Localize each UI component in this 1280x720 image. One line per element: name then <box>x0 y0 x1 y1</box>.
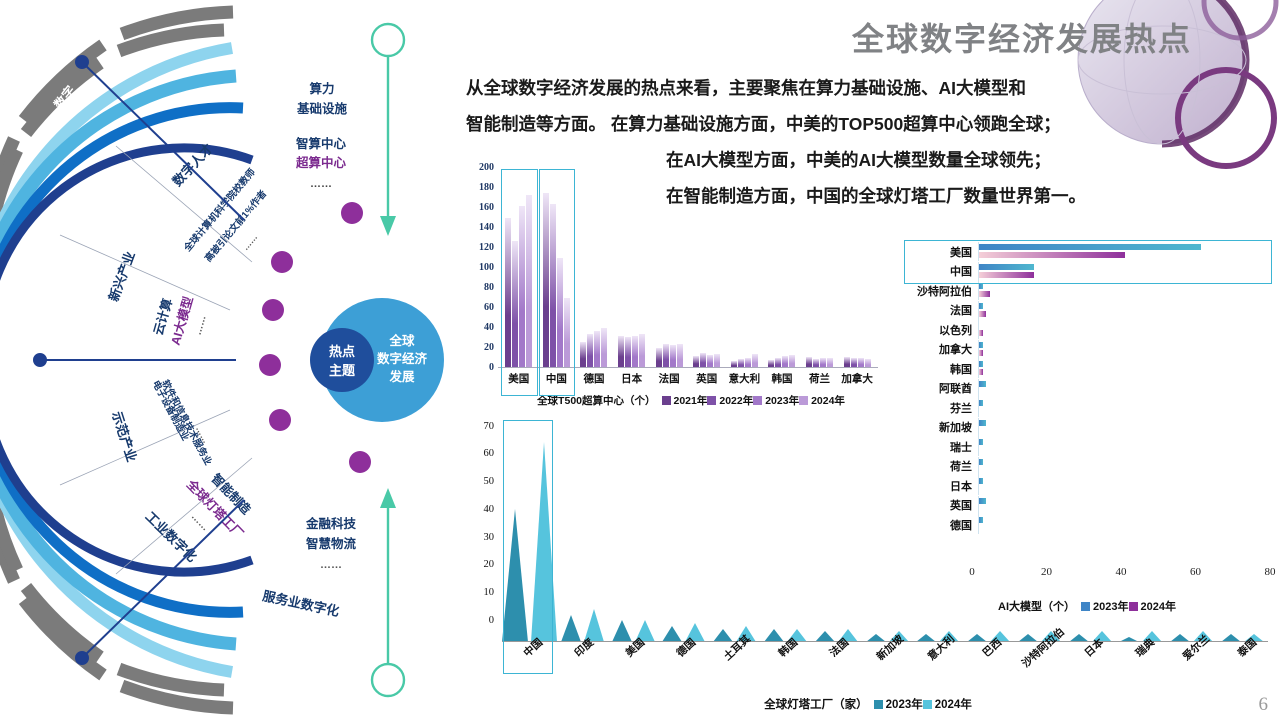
legend-label-3: 2024年 <box>811 393 845 408</box>
chart-t500-bar <box>564 298 570 368</box>
chart-lighthouse-group <box>502 422 557 642</box>
chart-ai-models-bar-cell <box>978 281 1270 300</box>
legend-item-0: 2023年 <box>874 696 923 712</box>
sector-5-dots: …… <box>189 511 211 533</box>
chart-ai-models-bar <box>979 303 983 309</box>
chart-t500-xlabel: 韩国 <box>763 371 801 386</box>
chart-lighthouse-xlabel: 瑞典 <box>1115 642 1166 680</box>
legend-swatch-1 <box>707 396 716 405</box>
chart-lighthouse-xlabel: 爱尔兰 <box>1166 642 1217 680</box>
chart-ai-models-category-label: 阿联酋 <box>898 380 978 396</box>
chart-t500-xlabel: 德国 <box>575 371 613 386</box>
paragraph-line-2: 智能制造等方面。 在算力基础设施方面，中美的TOP500超算中心领跑全球； <box>466 114 1206 136</box>
sector-0-line2: 基础设施 <box>296 101 348 116</box>
center-inner-line1: 热点 <box>329 344 355 359</box>
chart-ai-models-bar-cell <box>978 379 1270 398</box>
chart-ai-models-bar <box>979 264 1034 270</box>
chart-t500-bar <box>587 334 593 368</box>
fan-sector-texts: 算力 基础设施 智算中心 超算中心 …… 全球计算机科学院校教师 高被引论文前1… <box>150 81 357 571</box>
chart-ai-models-category-label: 韩国 <box>898 361 978 377</box>
chart-ai-models-row: 中国 <box>898 262 1270 282</box>
chart-t500-bar <box>557 258 563 368</box>
chart-t500-xlabel: 中国 <box>538 371 576 386</box>
legend-label-0: 2023年 <box>886 696 923 712</box>
purple-dot-1 <box>271 251 293 273</box>
chart-lighthouse-ytick: 50 <box>464 476 494 487</box>
chart-lighthouse-group <box>912 422 963 642</box>
sector-1-line1: 智算中心 <box>295 136 347 151</box>
chart-t500-bar <box>519 206 525 368</box>
chart-t500-ytick: 0 <box>462 362 494 373</box>
sector-6-dots: …… <box>320 559 342 571</box>
chart-lighthouse-legend: 2023年2024年 <box>874 696 972 712</box>
chart-lighthouse-triangle <box>612 620 632 642</box>
chart-lighthouse-ytick: 20 <box>464 559 494 570</box>
chart-t500-bar <box>580 342 586 368</box>
chart-lighthouse-factories: 010203040506070 中国印度美国德国土耳其韩国法国新加坡意大利巴西沙… <box>462 412 1274 714</box>
chart-t500-bar <box>512 241 518 368</box>
chart-lighthouse-xlabel: 印度 <box>553 642 604 680</box>
chart-ai-models-row: 美国 <box>898 242 1270 262</box>
purple-dot-4 <box>269 409 291 431</box>
chart-t500-bar <box>670 345 676 368</box>
chart-lighthouse-group <box>659 422 710 642</box>
legend-label-1: 2024年 <box>935 696 972 712</box>
chart-ai-models-row: 阿联酋 <box>898 379 1270 399</box>
chart-t500-caption: 全球T500超算中心（个） 2021年2022年2023年2024年 <box>500 393 882 408</box>
sector-3-dots: …… <box>193 314 209 336</box>
chart-t500-x-labels: 美国中国德国日本法国英国意大利韩国荷兰加拿大 <box>500 371 876 386</box>
sector-4-line2: 软件和信息技术服务业 <box>159 378 214 468</box>
chart-t500-bar <box>601 328 607 368</box>
center-inner-circle <box>310 328 374 392</box>
chart-ai-models-bar <box>979 252 1125 258</box>
chart-lighthouse-xlabel: 意大利 <box>911 642 962 680</box>
chart-lighthouse-xlabel: 法国 <box>808 642 859 680</box>
green-circle-bottom <box>372 664 404 696</box>
chart-lighthouse-xlabel: 韩国 <box>757 642 808 680</box>
chart-t500-bar <box>700 353 706 368</box>
chart-lighthouse-xlabel: 土耳其 <box>706 642 757 680</box>
chart-t500-xlabel: 法国 <box>650 371 688 386</box>
chart-lighthouse-xlabel: 新加坡 <box>859 642 910 680</box>
chart-ai-models-row: 以色列 <box>898 320 1270 340</box>
fan-center: 全球 数字经济 发展 热点 主题 <box>310 298 444 422</box>
chart-lighthouse-ytick: 30 <box>464 532 494 543</box>
purple-dot-2 <box>262 299 284 321</box>
chart-lighthouse-xlabel: 巴西 <box>962 642 1013 680</box>
chart-t500-baseline <box>498 367 878 368</box>
chart-ai-models-bar <box>979 244 1201 250</box>
sector-1-dots: …… <box>310 178 332 190</box>
chart-lighthouse-group <box>963 422 1014 642</box>
chart-lighthouse-triangle <box>531 442 557 642</box>
chart-lighthouse-xlabel: 沙特阿拉伯 <box>1013 642 1064 680</box>
chart-t500-xlabel: 意大利 <box>726 371 764 386</box>
chart-ai-models-category-label: 法国 <box>898 302 978 318</box>
ring-label-4: 服务业数字化 <box>261 588 340 619</box>
chart-t500-xlabel: 日本 <box>613 371 651 386</box>
center-inner-line2: 主题 <box>329 363 356 378</box>
paragraph-line-3: 在AI大模型方面，中美的AI大模型数量全球领先； <box>466 150 1206 172</box>
legend-label-1: 2022年 <box>719 393 753 408</box>
chart-lighthouse-ytick: 0 <box>464 615 494 626</box>
chart-lighthouse-xlabel: 中国 <box>502 642 553 680</box>
chart-t500-bar <box>618 336 624 368</box>
chart-ai-models-bar <box>979 400 983 406</box>
chart-t500-ytick: 40 <box>462 322 494 333</box>
legend-item-1: 2022年 <box>707 393 753 408</box>
chart-t500-xlabel: 荷兰 <box>801 371 839 386</box>
sector-1-line2: 超算中心 <box>295 155 347 170</box>
legend-item-1: 2024年 <box>923 696 972 712</box>
chart-lighthouse-ytick: 60 <box>464 448 494 459</box>
chart-lighthouse-group <box>760 422 811 642</box>
legend-swatch-1 <box>923 700 932 709</box>
chart-ai-models-bar-cell <box>978 262 1270 281</box>
legend-swatch-0 <box>874 700 883 709</box>
center-outer-line2: 数字经济 <box>376 351 428 366</box>
sector-2-dots: …… <box>240 232 259 252</box>
chart-ai-models-bar-cell <box>978 242 1270 261</box>
chart-lighthouse-group <box>862 422 913 642</box>
chart-lighthouse-caption: 全球灯塔工厂（家） 2023年2024年 <box>462 696 1274 712</box>
chart-t500-bar <box>625 337 631 368</box>
chart-lighthouse-caption-text: 全球灯塔工厂（家） <box>764 696 868 712</box>
chart-ai-models-bar <box>979 311 986 317</box>
chart-lighthouse-group <box>1166 422 1217 642</box>
chart-lighthouse-group <box>1217 422 1268 642</box>
chart-lighthouse-triangle <box>561 615 581 642</box>
chart-ai-models-category-label: 中国 <box>898 263 978 279</box>
chart-t500-bar <box>714 354 720 368</box>
chart-ai-models-category-label: 美国 <box>898 244 978 260</box>
chart-lighthouse-triangle <box>662 626 682 642</box>
chart-ai-models-category-label: 加拿大 <box>898 341 978 357</box>
chart-ai-models-category-label: 沙特阿拉伯 <box>898 283 978 299</box>
legend-item-3: 2024年 <box>799 393 845 408</box>
chart-t500-bar <box>656 348 662 368</box>
radial-fan-diagram: 数字化 基础设施 数字 要素 数字 产业化 产业 数字化 数字化 产业 <box>0 0 470 720</box>
chart-t500-ytick: 80 <box>462 282 494 293</box>
legend-swatch-0 <box>662 396 671 405</box>
chart-t500-bar <box>632 336 638 368</box>
page-number: 6 <box>1259 694 1269 716</box>
chart-ai-models-bar <box>979 291 990 297</box>
chart-ai-models-row: 法国 <box>898 301 1270 321</box>
chart-t500-bar <box>677 344 683 368</box>
chart-t500-ytick: 120 <box>462 242 494 253</box>
chart-lighthouse-triangle <box>502 509 528 642</box>
paragraph-line-1: 从全球数字经济发展的热点来看，主要聚焦在算力基础设施、AI大模型和 <box>466 78 1206 100</box>
chart-t500-xlabel: 英国 <box>688 371 726 386</box>
legend-label-2: 2023年 <box>765 393 799 408</box>
chart-t500-ytick: 100 <box>462 262 494 273</box>
chart-t500-ytick: 20 <box>462 342 494 353</box>
chart-t500-xlabel: 美国 <box>500 371 538 386</box>
chart-ai-models-row: 沙特阿拉伯 <box>898 281 1270 301</box>
legend-item-2: 2023年 <box>753 393 799 408</box>
page-title: 全球数字经济发展热点 <box>852 14 1192 60</box>
chart-t500-ytick: 60 <box>462 302 494 313</box>
chart-ai-models-bar-cell <box>978 359 1270 378</box>
body-paragraph: 从全球数字经济发展的热点来看，主要聚焦在算力基础设施、AI大模型和 智能制造等方… <box>466 78 1206 222</box>
chart-t500-ytick: 140 <box>462 222 494 233</box>
chart-t500-bar <box>505 218 511 368</box>
chart-lighthouse-ytick: 70 <box>464 421 494 432</box>
chart-t500-legend: 2021年2022年2023年2024年 <box>662 393 845 408</box>
paragraph-line-4: 在智能制造方面，中国的全球灯塔工厂数量世界第一。 <box>466 186 1206 208</box>
chart-ai-models-bar <box>979 350 983 356</box>
chart-lighthouse-group <box>1014 422 1065 642</box>
chart-lighthouse-group <box>608 422 659 642</box>
chart-lighthouse-ytick: 10 <box>464 587 494 598</box>
chart-ai-models-bar <box>979 330 983 336</box>
chart-ai-models-row: 韩国 <box>898 359 1270 379</box>
chart-ai-models-bar <box>979 342 983 348</box>
center-outer-line3: 发展 <box>388 369 415 384</box>
chart-ai-models-category-label: 以色列 <box>898 322 978 338</box>
purple-dot-3 <box>259 354 281 376</box>
chart-ai-models-bar <box>979 272 1034 278</box>
green-circle-top <box>372 24 404 56</box>
chart-lighthouse-group <box>811 422 862 642</box>
chart-lighthouse-xlabel: 德国 <box>655 642 706 680</box>
chart-lighthouse-plot-area <box>502 422 1268 642</box>
chart-ai-models-bar <box>979 283 983 289</box>
chart-lighthouse-group <box>709 422 760 642</box>
legend-swatch-3 <box>799 396 808 405</box>
chart-ai-models-bar <box>979 381 986 387</box>
ring-label-2: 示范产业 <box>109 410 139 464</box>
chart-lighthouse-group <box>1065 422 1116 642</box>
chart-t500-bar <box>550 204 556 368</box>
chart-lighthouse-group <box>1116 422 1167 642</box>
chart-ai-models-bar-cell <box>978 340 1270 359</box>
sector-6-line2: 智慧物流 <box>305 536 357 551</box>
chart-t500-bar <box>594 331 600 368</box>
legend-label-0: 2021年 <box>674 393 708 408</box>
chart-t500-bar <box>752 354 758 368</box>
legend-swatch-2 <box>753 396 762 405</box>
chart-lighthouse-xlabel: 泰国 <box>1217 642 1268 680</box>
chart-ai-models-row: 加拿大 <box>898 340 1270 360</box>
purple-dot-0 <box>341 202 363 224</box>
center-outer-line1: 全球 <box>388 333 415 348</box>
chart-ai-models-bar-cell <box>978 320 1270 339</box>
chart-lighthouse-xlabel: 美国 <box>604 642 655 680</box>
chart-t500-bar <box>639 334 645 368</box>
purple-dot-5 <box>349 451 371 473</box>
sector-6-line1: 金融科技 <box>305 516 357 531</box>
chart-lighthouse-group <box>557 422 608 642</box>
chart-lighthouse-ytick: 40 <box>464 504 494 515</box>
chart-ai-models-bar <box>979 369 983 375</box>
chart-lighthouse-x-labels: 中国印度美国德国土耳其韩国法国新加坡意大利巴西沙特阿拉伯日本瑞典爱尔兰泰国 <box>502 642 1268 680</box>
chart-t500-xlabel: 加拿大 <box>838 371 876 386</box>
chart-t500-caption-text: 全球T500超算中心（个） <box>537 393 655 408</box>
slide-root: 全球数字经济发展热点 从全球数字经济发展的热点来看，主要聚焦在算力基础设施、AI… <box>0 0 1280 720</box>
legend-item-0: 2021年 <box>662 393 708 408</box>
chart-ai-models-bar <box>979 361 983 367</box>
chart-t500-bar <box>663 344 669 368</box>
sector-0-line1: 算力 <box>309 81 334 96</box>
chart-lighthouse-xlabel: 日本 <box>1064 642 1115 680</box>
chart-ai-models-bar-cell <box>978 301 1270 320</box>
